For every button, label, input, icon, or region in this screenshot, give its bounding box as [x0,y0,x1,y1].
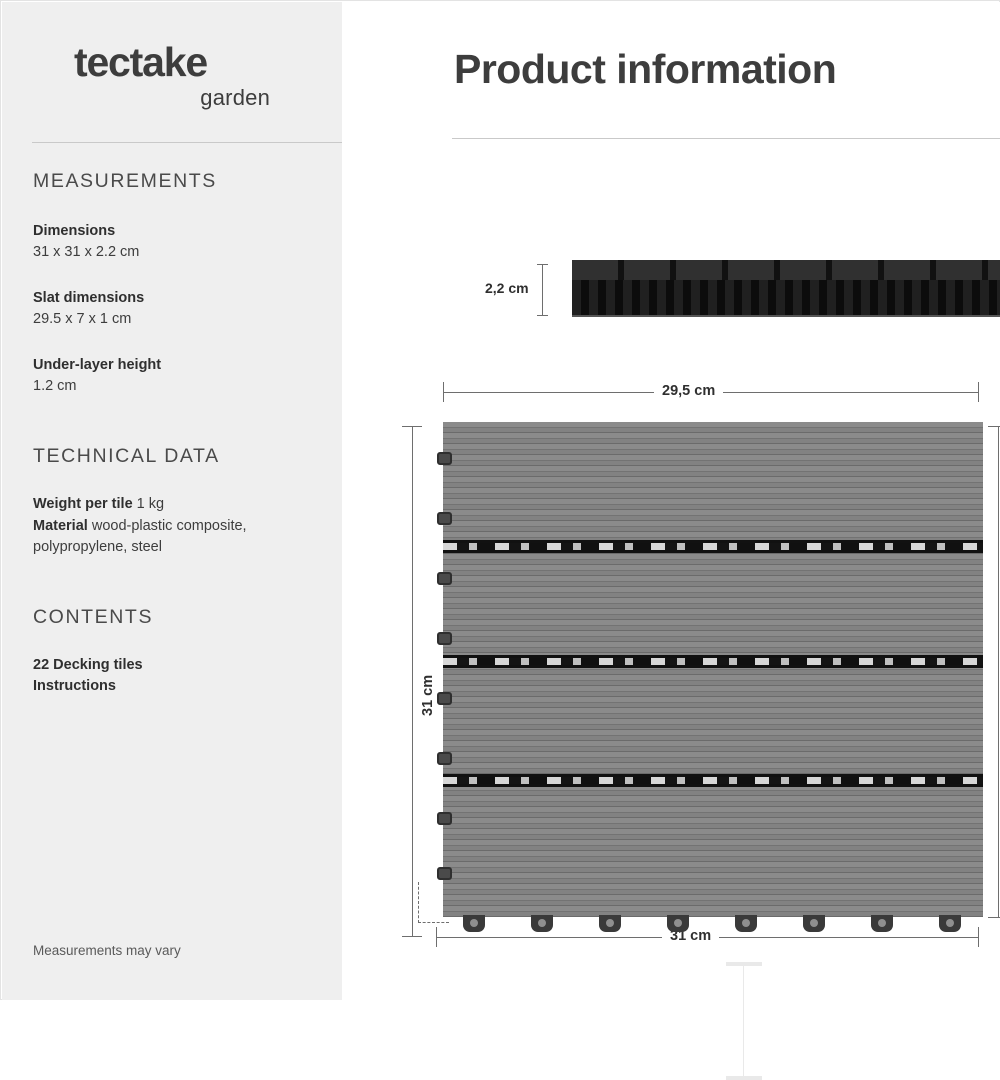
main-panel: Product information 2,2 cm 29,5 cm 29,5 … [342,2,1000,1000]
slat-dimensions-value: 29.5 x 7 x 1 cm [33,309,333,330]
top-dim-tick-right [978,382,979,402]
slat-dim-tick-top [726,962,762,966]
slat-dim-line [743,962,744,1080]
dimensions-label: Dimensions [33,221,333,242]
footnote: Measurements may vary [33,943,181,958]
slat-dim-tick-bottom [726,1076,762,1080]
contents-item-tiles: 22 Decking tiles [33,655,333,676]
product-information-page: tectake garden MEASUREMENTS Dimensions 3… [0,0,1000,1000]
tile-gap-3 [443,774,983,787]
page-title: Product information [454,46,836,93]
tile-side-clip[interactable] [437,752,452,765]
tile-foot [463,915,485,932]
technical-data-heading: TECHNICAL DATA [33,445,333,468]
measurements-heading-wrap: MEASUREMENTS [33,170,333,193]
tile-foot [531,915,553,932]
brand-logo: tectake garden [74,42,324,111]
contents-list: 22 Decking tiles Instructions [33,655,333,697]
tile-gap-2 [443,655,983,668]
contents-heading: CONTENTS [33,606,333,629]
slat-width-label: 7 cm [750,1014,783,1030]
weight-label: Weight per tile [33,496,133,512]
tile-side-clip[interactable] [437,632,452,645]
brand-subtitle: garden [74,85,270,111]
tile-side-clip[interactable] [437,812,452,825]
measurement-item-dimensions: Dimensions 31 x 31 x 2.2 cm [33,221,333,263]
tile-side-clip[interactable] [437,572,452,585]
side-view-top-surface [572,260,1000,280]
measurements-heading: MEASUREMENTS [33,170,333,193]
title-divider [452,138,1000,139]
tile-foot [667,915,689,932]
side-height-label: 2,2 cm [485,280,529,296]
tile-foot [599,915,621,932]
tile-foot [803,915,825,932]
left-dim-tick-bottom [402,936,422,937]
top-width-label: 29,5 cm [654,383,723,399]
under-layer-height-label: Under-layer height [33,355,333,376]
tile-gap-1 [443,540,983,553]
tile-foot [735,915,757,932]
tile-side-clip[interactable] [437,452,452,465]
contents-item-instructions: Instructions [33,676,333,697]
tile-side-clip[interactable] [437,512,452,525]
side-view-underlayer [572,280,1000,316]
right-dim-tick-bottom [988,917,1000,918]
side-view-base-line [572,315,1000,317]
left-dim-line [412,426,413,936]
side-dim-tick-bottom [537,315,548,316]
tile-foot [939,915,961,932]
weight-value: 1 kg [133,496,164,512]
tile-side-clip[interactable] [437,692,452,705]
technical-heading-wrap: TECHNICAL DATA [33,445,333,468]
technical-weight-row: Weight per tile 1 kg [33,494,333,515]
under-layer-height-value: 1.2 cm [33,376,333,397]
side-dim-line [542,264,543,316]
tile-side-view [572,260,1000,320]
measurement-item-underlayer: Under-layer height 1.2 cm [33,355,333,397]
tile-top-view: 7 cm [443,422,983,922]
sidebar-divider [32,142,342,143]
brand-name: tectake [74,42,324,83]
tile-side-clip[interactable] [437,867,452,880]
tile-foot [871,915,893,932]
right-dim-line [998,426,999,917]
bottom-dim-tick-right [978,927,979,947]
slat-dimensions-label: Slat dimensions [33,288,333,309]
technical-material-row: Material wood-plastic composite, polypro… [33,516,333,558]
tile-surface [443,422,983,917]
material-label: Material [33,518,88,534]
measurement-item-slat: Slat dimensions 29.5 x 7 x 1 cm [33,288,333,330]
left-height-label: 31 cm [420,667,436,724]
dimensions-value: 31 x 31 x 2.2 cm [33,242,333,263]
contents-heading-wrap: CONTENTS [33,606,333,629]
sidebar: tectake garden MEASUREMENTS Dimensions 3… [2,2,342,1000]
